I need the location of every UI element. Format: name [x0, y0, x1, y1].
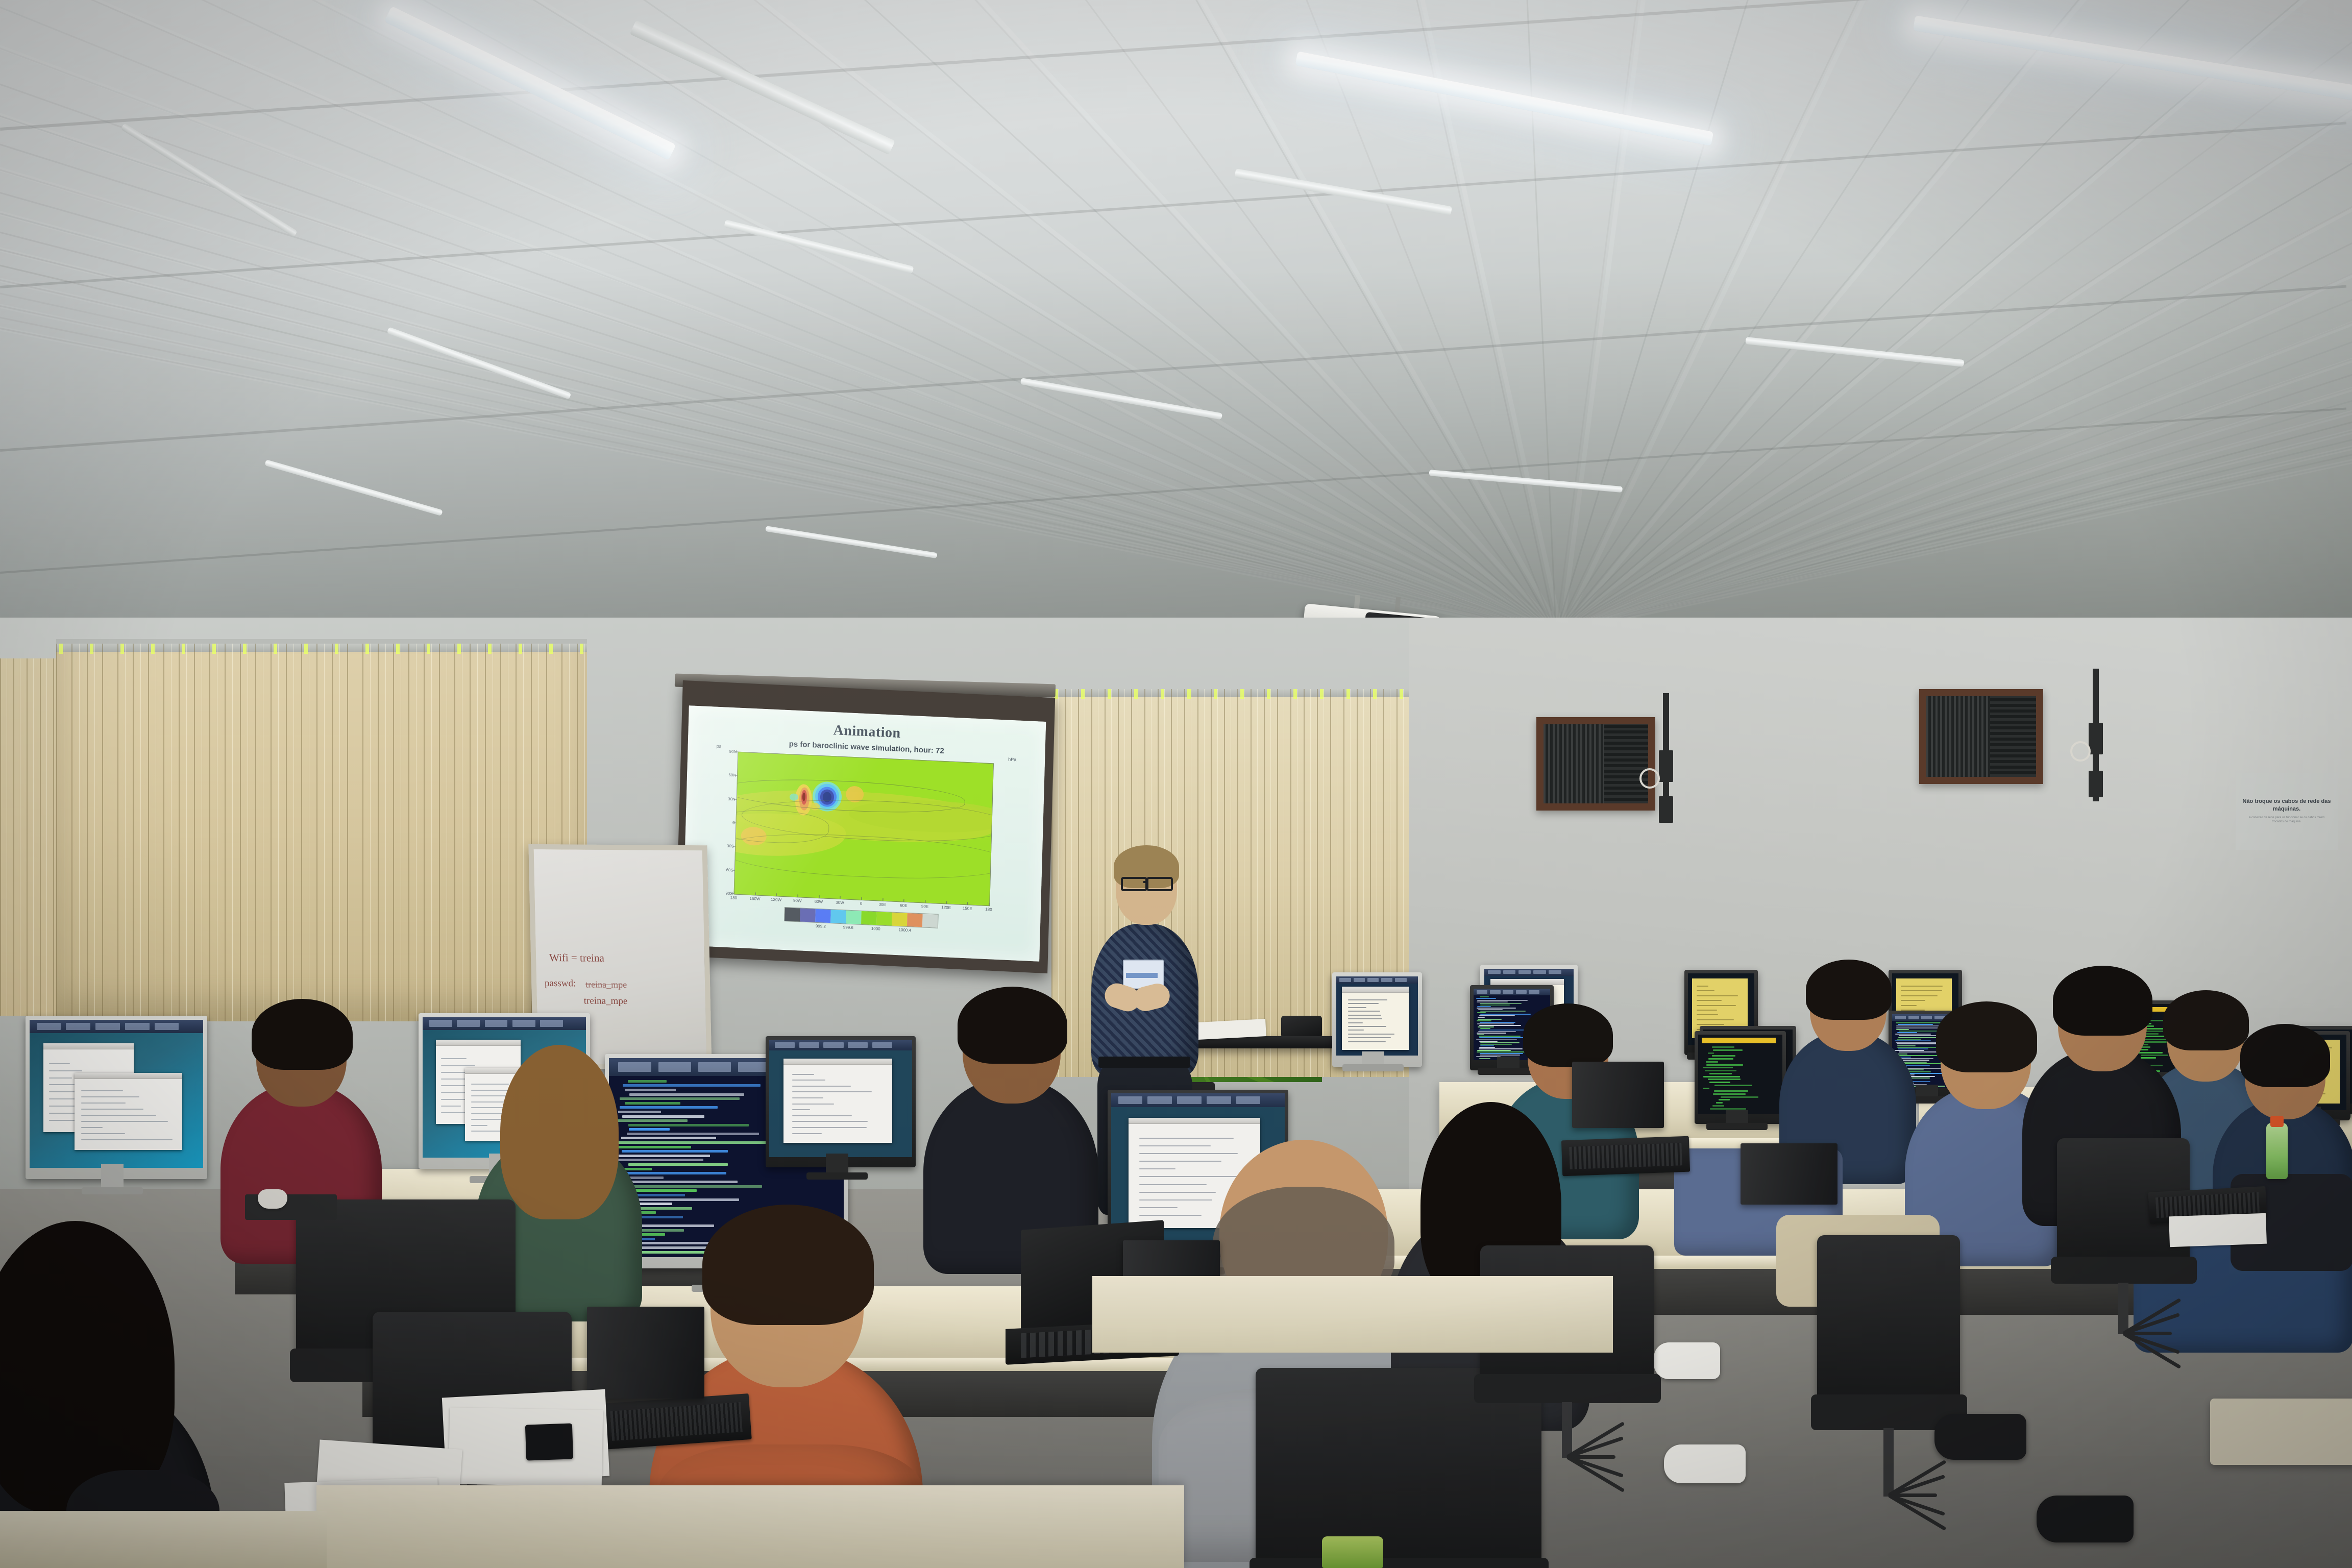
blind-light-gap [304, 644, 308, 654]
terminal-output-line [1708, 1052, 1714, 1054]
colorbar-swatch [846, 911, 862, 924]
terminal-code-line [628, 1124, 749, 1126]
desktop-tower-front-left [587, 1307, 704, 1399]
blind-slat-highlight [1270, 689, 1271, 1077]
blind-slat-highlight [1244, 689, 1244, 1077]
blind-rail [56, 644, 587, 652]
blind-slat-highlight [278, 644, 279, 1021]
document-window[interactable] [1342, 987, 1409, 1050]
terminal-output-line [1719, 1099, 1730, 1100]
attendee-red-shirt-hair [252, 999, 353, 1070]
terminal-output-line [1712, 1105, 1724, 1107]
spreadsheet-row-line [1697, 1024, 1725, 1025]
blind-slat [1330, 689, 1331, 1077]
blind-slat [71, 644, 72, 1021]
taskbar-window-button[interactable] [1339, 978, 1351, 982]
terminal-output-line [1714, 1085, 1753, 1086]
terminal-code-line [1477, 1033, 1506, 1034]
taskbar-window-button[interactable] [1503, 990, 1513, 994]
blind-slat [102, 644, 103, 1021]
plot-y-tick-label: 90S [713, 891, 733, 896]
desktop-taskbar[interactable] [1484, 969, 1574, 976]
taskbar-window-button[interactable] [799, 1042, 819, 1048]
browser-window[interactable] [783, 1059, 892, 1143]
ac-panel [1604, 724, 1648, 803]
terminal-code-line [616, 1146, 691, 1148]
blind-light-gap [1187, 689, 1191, 699]
taskbar-window-button[interactable] [872, 1042, 892, 1048]
blind-slat-highlight [140, 644, 141, 1021]
plot-y-tick-label: 0 [714, 820, 734, 825]
desktop-taskbar[interactable] [769, 1040, 912, 1050]
blind-light-gap [1293, 689, 1297, 699]
terminal-code-line [1480, 996, 1489, 997]
attendee-shoe-right [1664, 1444, 1746, 1483]
taskbar-window-button[interactable] [1177, 1096, 1202, 1104]
blind-slat [87, 644, 88, 1021]
blind-slat [1224, 689, 1225, 1077]
window-text-line [49, 1063, 70, 1064]
blind-slat [194, 644, 195, 1021]
terminal-code-line [1480, 1028, 1490, 1029]
document-text-line [1348, 1007, 1366, 1008]
taskbar-window-button[interactable] [1503, 970, 1516, 974]
colorbar-swatch [922, 914, 938, 927]
taskbar-window-button[interactable] [66, 1023, 90, 1030]
blind-slat-highlight [1204, 689, 1205, 1077]
terminal-code-line [625, 1089, 676, 1091]
attendee-dark-back [939, 980, 1083, 1255]
blind-light-gap [365, 644, 369, 654]
terminal-code-line [1480, 1004, 1510, 1006]
plot-y-tick-label: 60N [716, 772, 736, 778]
colorbar-tick-label: 999.6 [843, 925, 853, 930]
blind-slat-highlight [217, 644, 217, 1021]
blind-slat-highlight [110, 644, 110, 1021]
desktop-taskbar[interactable] [1336, 976, 1418, 984]
sign-sub-text: A conexão de rede para os funcionar se o… [2236, 816, 2338, 824]
blind-light-gap [549, 644, 553, 654]
spreadsheet-row-line [1697, 995, 1738, 996]
document-text-line [1348, 1034, 1394, 1035]
colorbar-swatch [800, 908, 816, 922]
terminal-output-line [1708, 1079, 1741, 1080]
taskbar-window-button[interactable] [429, 1020, 452, 1027]
blind-slat-highlight [339, 644, 340, 1021]
terminal-code-line [1477, 1020, 1491, 1021]
spreadsheet-row-line [1697, 986, 1708, 987]
terminal-code-line [1477, 1034, 1484, 1035]
window-text-line [49, 1084, 76, 1085]
taskbar-window-button[interactable] [1236, 1096, 1261, 1104]
monitor-center-back[interactable] [766, 1036, 916, 1167]
colorbar-tick-label: 1000 [871, 926, 880, 932]
colorbar-swatch [785, 908, 800, 921]
smartphone-on-desk [525, 1423, 573, 1460]
terminal-output-line [1703, 1076, 1740, 1077]
plot-x-tick-mark [925, 900, 925, 903]
document-text-line [1348, 1015, 1381, 1016]
monitor-mid-2-stand [1726, 1110, 1748, 1123]
document-text-line [1348, 1030, 1364, 1031]
terminal-code-line [623, 1084, 761, 1087]
spreadsheet-row-line [1901, 986, 1943, 987]
plot-y-tick-mark [732, 870, 735, 870]
plot-y-tick-label: 90N [716, 749, 737, 754]
terminal-code-line [627, 1133, 759, 1135]
plot-x-tick-mark [797, 894, 798, 897]
taskbar-window-button[interactable] [1118, 1096, 1143, 1104]
blind-slat [301, 644, 302, 1021]
terminal-code-line [1480, 1044, 1512, 1045]
blind-slat [1211, 689, 1212, 1077]
blind-slat [516, 644, 517, 1021]
plot-y-tick-label: 60S [713, 867, 733, 872]
taskbar-window-button[interactable] [775, 1042, 795, 1048]
window-text-line [81, 1115, 156, 1116]
terminal-output-line [1714, 1090, 1748, 1092]
blind-slat-highlight [385, 644, 386, 1021]
taskbar-window-button[interactable] [1367, 978, 1379, 982]
blind-slat [286, 644, 287, 1021]
spreadsheet-row-line [1697, 1019, 1734, 1020]
terminal-code-line [1477, 1006, 1490, 1007]
terminal-output-line [1713, 1049, 1742, 1051]
blind-slat [362, 644, 363, 1021]
taskbar-window-button[interactable] [848, 1042, 868, 1048]
terminal-output-line [1708, 1058, 1733, 1060]
blind-slat-highlight [79, 644, 80, 1021]
taskbar-window-button[interactable] [1516, 990, 1527, 994]
window-title-bar[interactable] [75, 1073, 182, 1079]
presenter-glasses-left [1121, 877, 1147, 891]
blind-slat [0, 658, 1, 1016]
colorbar-swatch [907, 913, 923, 927]
terminal-code-line [617, 1159, 703, 1161]
blind-slat [225, 644, 226, 1021]
browser-text-line [792, 1109, 810, 1110]
blind-slat-highlight [416, 644, 416, 1021]
sign-main-text: Não troque os cabos de rede das máquinas… [2236, 798, 2338, 813]
plot-y-tick-mark [732, 846, 736, 847]
plot-x-tick-mark [840, 896, 841, 899]
attendee-teal-shirt-hair [1523, 1003, 1613, 1067]
blind-slat [40, 658, 41, 1016]
terminal-output-line [1721, 1096, 1758, 1098]
plot-x-tick-mark [776, 893, 777, 896]
browser-text-line [792, 1080, 825, 1081]
document-text-line [1348, 1003, 1379, 1004]
blind-light-gap [1240, 689, 1244, 699]
plot-x-tick-label: 180 [730, 895, 737, 913]
monitor-mid-2-base [1706, 1123, 1768, 1130]
terminal-code-line [617, 1119, 688, 1122]
conduit-junction-box-1 [1659, 750, 1673, 782]
plot-variable-label: ps [717, 744, 722, 749]
blind-slat [179, 644, 180, 1021]
terminal-output-line [1703, 1067, 1733, 1068]
terminal-code-line [1477, 1050, 1511, 1051]
taskbar-window-button[interactable] [1518, 970, 1531, 974]
plot-x-tick-label: 120E [941, 905, 951, 923]
ac-grille-2 [1926, 696, 1990, 777]
blind-slat-highlight [1085, 689, 1085, 1077]
blind-slat-highlight [232, 644, 233, 1021]
blind-slat-highlight [171, 644, 171, 1021]
terminal-code-line [1479, 1047, 1495, 1048]
blind-light-gap [1214, 689, 1217, 699]
blind-slat [56, 644, 57, 1021]
plot-unit-label: hPa [1008, 757, 1016, 763]
colorbar-swatch [892, 913, 908, 926]
browser-text-line [792, 1086, 851, 1087]
colorbar-swatch [876, 912, 892, 925]
chair-right-back-post [2118, 1283, 2128, 1334]
desk-far-right-front [2210, 1399, 2352, 1465]
projected-slide: Animation ps for baroclinic wave simulat… [682, 705, 1046, 962]
blind-light-gap [120, 644, 124, 654]
terminal-code-line [621, 1137, 716, 1139]
document-title-bar[interactable] [1342, 987, 1409, 993]
taskbar-window-button[interactable] [1490, 990, 1501, 994]
blind-light-gap [59, 644, 63, 654]
presenter-glasses-right [1146, 877, 1173, 891]
taskbar-window-button[interactable] [698, 1062, 731, 1072]
terminal-output-line [1713, 1093, 1746, 1095]
blind-slat-highlight [263, 644, 263, 1021]
blind-light-gap [182, 644, 185, 654]
window-text-line [81, 1090, 123, 1091]
blind-light-gap [396, 644, 400, 654]
blind-light-gap [1108, 689, 1111, 699]
attendee-back-right-1 [1792, 954, 1904, 1169]
monitor-center-back-screen[interactable] [769, 1040, 912, 1157]
desktop-taskbar[interactable] [1111, 1093, 1285, 1107]
spreadsheet-row-line [1697, 1000, 1722, 1001]
attendee-orange-shirt-hair [702, 1205, 874, 1325]
power-outlet-1 [1659, 796, 1673, 823]
taskbar-window-button[interactable] [1549, 970, 1561, 974]
browser-text-line [1139, 1168, 1175, 1169]
taskbar-window-button[interactable] [1354, 978, 1365, 982]
window-text-line [471, 1125, 487, 1126]
desk-center-right-panel [1092, 1276, 1613, 1353]
blind-light-gap [1161, 689, 1164, 699]
taskbar-window-button[interactable] [125, 1023, 150, 1030]
monitor-left-1-screen[interactable] [30, 1020, 203, 1168]
blind-light-gap [1373, 689, 1377, 699]
blind-light-gap [457, 644, 461, 654]
blind-slat [1237, 689, 1238, 1077]
terminal-code-line [620, 1097, 740, 1100]
blind-slat-highlight [7, 658, 7, 1016]
blind-slat-highlight [94, 644, 95, 1021]
keyboard-mid-right [1561, 1136, 1690, 1177]
monitor-mid-2-screen[interactable] [1698, 1035, 1782, 1114]
terminal-code-line [630, 1185, 762, 1188]
taskbar-window-button[interactable] [1207, 1096, 1231, 1104]
blind-slat [470, 644, 471, 1021]
desk-front-panel [316, 1485, 1184, 1568]
attendee-dark-shirt-hair [2053, 966, 2152, 1036]
plot-y-tick-label: 30N [715, 796, 736, 801]
taskbar-window-button[interactable] [37, 1023, 61, 1030]
blind-slat-highlight [447, 644, 447, 1021]
monitor-left-1[interactable] [26, 1016, 207, 1179]
document-text-line [1348, 1041, 1386, 1042]
plot-y-tick-mark [735, 751, 738, 752]
taskbar-window-button[interactable] [1908, 1016, 1919, 1019]
blind-light-gap [1081, 689, 1085, 699]
blind-slat [271, 644, 272, 1021]
window-text-line [49, 1077, 72, 1079]
conduit-cable-coil-1 [1639, 768, 1660, 789]
blind-slat [117, 644, 118, 1021]
blind-light-gap [212, 644, 216, 654]
taskbar-window-button[interactable] [1529, 990, 1539, 994]
papers-right [2169, 1213, 2267, 1247]
plot-y-tick-label: 30S [714, 843, 734, 849]
water-bottle [2266, 1123, 2288, 1179]
plot-x-tick-mark [755, 892, 755, 895]
window-text-line [441, 1065, 475, 1066]
taskbar-window-button[interactable] [1395, 978, 1406, 982]
blind-slat [424, 644, 425, 1021]
blind-slat-highlight [508, 644, 508, 1021]
document-text-line [1348, 1018, 1382, 1019]
window-text-line [81, 1096, 139, 1097]
blind-slat-highlight [1324, 689, 1324, 1077]
window-text-line [81, 1139, 173, 1140]
monitor-center-mid-base [1342, 1064, 1404, 1071]
terminal-output-line [1706, 1061, 1718, 1063]
blind-slat-highlight [523, 644, 524, 1021]
blind-slat [163, 644, 164, 1021]
slide-contour-plot: ps hPa 90N60N30N030S60S90S 180150W120W90… [713, 751, 1013, 917]
blind-slat [13, 658, 14, 1016]
terminal-output-line [1705, 1070, 1736, 1071]
blind-light-gap [1134, 689, 1138, 699]
chair-front-center-seat[interactable] [1249, 1558, 1549, 1568]
blind-slat-highlight [477, 644, 478, 1021]
blind-slat-highlight [20, 658, 20, 1016]
blind-light-gap [519, 644, 522, 654]
terminal-code-line [1476, 998, 1496, 999]
blind-light-gap [427, 644, 430, 654]
taskbar-window-button[interactable] [1147, 1096, 1172, 1104]
conduit-cable-coil-2 [2070, 741, 2091, 762]
desktop-tower-right [1741, 1143, 1837, 1205]
taskbar-window-button[interactable] [823, 1042, 843, 1048]
terminal-code-line [1477, 1001, 1508, 1002]
terminal-code-line [1480, 1045, 1494, 1046]
plot-x-tick-label: 180 [985, 907, 992, 925]
ac-grille [1543, 724, 1604, 803]
terminal-code-line [629, 1093, 744, 1096]
plot-x-tick-mark [989, 903, 989, 905]
terminal-code-line [1478, 1017, 1485, 1018]
blind-slat-highlight [186, 644, 187, 1021]
document-text-line [1348, 1011, 1380, 1012]
window-text-line [81, 1109, 143, 1110]
desk-front-panel-left [0, 1511, 327, 1568]
terminal-code-line [623, 1181, 738, 1183]
terminal-output-line [1710, 1108, 1746, 1110]
blind-slat [500, 644, 501, 1021]
taskbar-window-button[interactable] [155, 1023, 179, 1030]
document-text-line [1348, 999, 1387, 1000]
taskbar-window-button[interactable] [485, 1020, 508, 1027]
terminal-output-line [1716, 1102, 1723, 1104]
spreadsheet-row-line [1901, 990, 1942, 991]
blind-slat-highlight [401, 644, 401, 1021]
window-text-line [49, 1098, 77, 1099]
terminal-output-line [1709, 1082, 1730, 1083]
text-editor-window[interactable] [75, 1073, 182, 1150]
document-title-bar[interactable] [1490, 979, 1564, 985]
colorbar-tick-label: 999.2 [816, 924, 826, 929]
chair-center-right-seat[interactable] [1474, 1374, 1661, 1403]
desktop-tower-mid-right [1572, 1062, 1664, 1128]
blind-slat [240, 644, 241, 1021]
browser-text-line [792, 1133, 822, 1134]
desktop-taskbar[interactable] [423, 1017, 586, 1030]
attendee-curly-hair-hair [500, 1045, 619, 1219]
desktop-taskbar[interactable] [1474, 989, 1550, 995]
browser-text-line [792, 1074, 814, 1075]
terminal-code-line [628, 1080, 667, 1083]
blind-slat-highlight [46, 658, 47, 1016]
chair-right-back-seat[interactable] [2051, 1257, 2197, 1284]
blind-slat [1277, 689, 1278, 1077]
browser-text-line [792, 1121, 868, 1122]
chair-right-recliner-back[interactable] [1817, 1235, 1960, 1399]
blind-slat-highlight [370, 644, 371, 1021]
attendee-back-right-3-hair [2240, 1024, 2330, 1087]
taskbar-window-button[interactable] [1381, 978, 1392, 982]
taskbar-window-button[interactable] [1477, 990, 1487, 994]
taskbar-window-button[interactable] [95, 1023, 120, 1030]
window-title-bar[interactable] [43, 1043, 134, 1049]
monitor-center-mid-screen[interactable] [1336, 976, 1418, 1056]
blind-slat-highlight [462, 644, 462, 1021]
blind-slat-highlight [493, 644, 493, 1021]
terminal-code-line [1479, 1041, 1498, 1042]
colorbar-swatch [815, 909, 831, 923]
attendee-dark-shoe-1 [1934, 1414, 2026, 1460]
terminal-code-line [629, 1128, 670, 1131]
taskbar-window-button[interactable] [1488, 970, 1501, 974]
water-bottle-cap [2270, 1116, 2284, 1127]
taskbar-window-button[interactable] [512, 1020, 535, 1027]
taskbar-window-button[interactable] [658, 1062, 691, 1072]
taskbar-window-button[interactable] [1533, 970, 1546, 974]
plot-x-tick-mark [904, 899, 904, 902]
desktop-taskbar[interactable] [30, 1020, 203, 1033]
blind-slat [255, 644, 256, 1021]
taskbar-window-button[interactable] [540, 1020, 563, 1027]
blind-slat-highlight [309, 644, 309, 1021]
air-conditioner-unit-2 [1919, 689, 2043, 784]
document-text-line [1348, 1026, 1386, 1027]
blind-slat-highlight [1217, 689, 1218, 1077]
taskbar-window-button[interactable] [457, 1020, 480, 1027]
blind-slat-highlight [125, 644, 126, 1021]
computer-mouse [258, 1189, 287, 1209]
terminal-code-line [1478, 1026, 1494, 1027]
plot-x-tick-mark [734, 892, 734, 894]
browser-title-bar[interactable] [783, 1059, 892, 1065]
